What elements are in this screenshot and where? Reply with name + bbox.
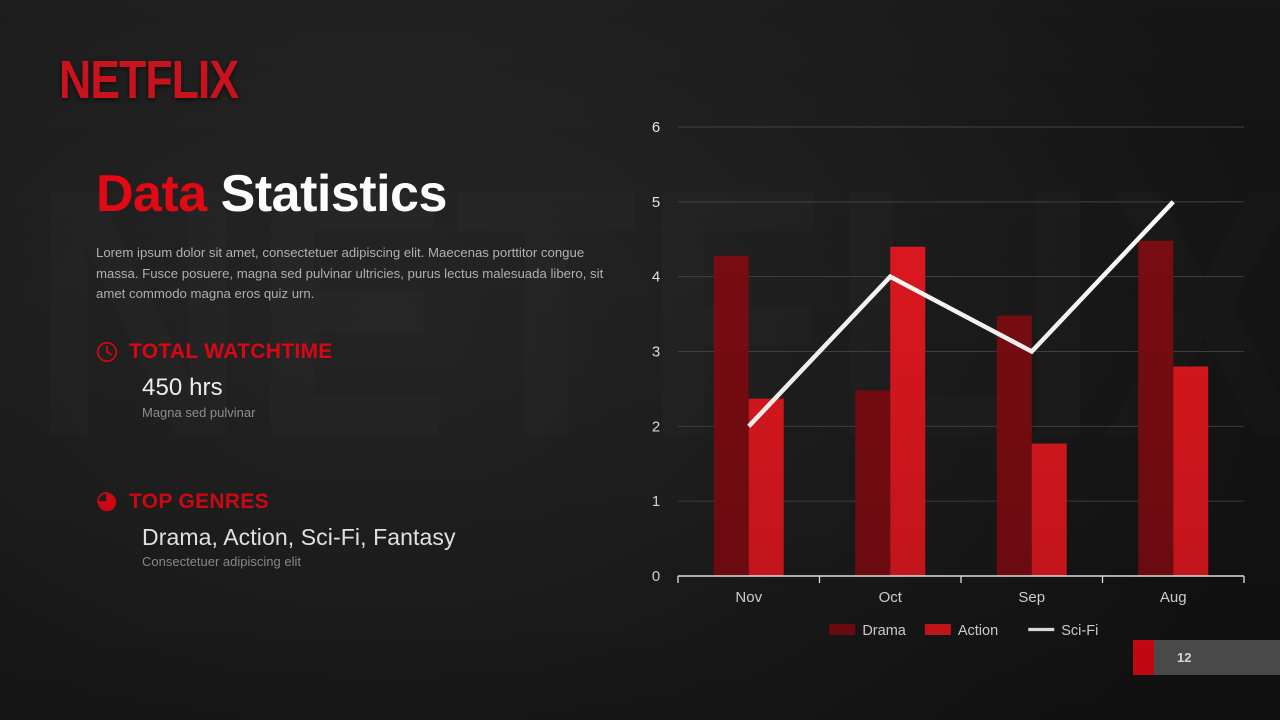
y-tick-label: 1	[652, 493, 660, 510]
page-number-badge: 12	[1133, 640, 1280, 675]
y-tick-label: 3	[652, 344, 660, 361]
page-number: 12	[1177, 650, 1191, 665]
chart-x-axis-labels: NovOctSepAug	[735, 589, 1186, 606]
chart-svg: 0123456 NovOctSepAug DramaActionSci-Fi	[636, 104, 1248, 640]
legend-label: Sci-Fi	[1061, 623, 1098, 639]
chart-bar	[855, 390, 890, 576]
x-tick-label: Aug	[1160, 589, 1187, 606]
chart-bar	[1032, 444, 1067, 576]
chart-bars	[714, 241, 1209, 576]
chart-line	[749, 202, 1174, 427]
chart-x-axis	[678, 576, 1244, 583]
x-tick-label: Oct	[879, 589, 903, 606]
statistics-chart: 0123456 NovOctSepAug DramaActionSci-Fi	[636, 104, 1248, 640]
chart-legend: DramaActionSci-Fi	[829, 623, 1098, 639]
stat-block-top-genres: TOP GENRES Drama, Action, Sci-Fi, Fantas…	[96, 490, 456, 569]
legend-swatch	[925, 624, 951, 635]
x-tick-label: Nov	[735, 589, 762, 606]
y-tick-label: 0	[652, 568, 660, 585]
left-content-column: Data Statistics Lorem ipsum dolor sit am…	[96, 168, 616, 305]
stat-header: TOTAL WATCHTIME	[96, 340, 333, 364]
chart-bar	[714, 256, 749, 576]
y-tick-label: 6	[652, 119, 660, 136]
y-tick-label: 5	[652, 194, 660, 211]
body-paragraph: Lorem ipsum dolor sit amet, consectetuer…	[96, 243, 604, 305]
legend-swatch	[829, 624, 855, 635]
clock-icon	[96, 341, 118, 363]
chart-bar	[749, 399, 784, 576]
page-title-plain: Statistics	[221, 165, 447, 223]
stat-header: TOP GENRES	[96, 490, 456, 514]
stat-subtext: Magna sed pulvinar	[142, 405, 333, 420]
netflix-logo: NETFLIX	[59, 48, 238, 111]
stat-label: TOP GENRES	[129, 490, 269, 514]
stat-block-total-watchtime: TOTAL WATCHTIME 450 hrs Magna sed pulvin…	[96, 340, 333, 420]
chart-bar	[890, 247, 925, 576]
chart-y-axis-labels: 0123456	[652, 119, 660, 585]
badge-accent-bar	[1133, 640, 1154, 675]
chart-bar	[1138, 241, 1173, 576]
chart-bar	[997, 316, 1032, 576]
x-tick-label: Sep	[1018, 589, 1045, 606]
stat-subtext: Consectetuer adipiscing elit	[142, 554, 456, 569]
stat-value: Drama, Action, Sci-Fi, Fantasy	[142, 524, 456, 551]
stat-label: TOTAL WATCHTIME	[129, 340, 333, 364]
stat-value: 450 hrs	[142, 374, 333, 402]
y-tick-label: 4	[652, 269, 660, 286]
page-title: Data Statistics	[96, 168, 616, 220]
chart-line-series	[749, 202, 1174, 427]
chart-bar	[1173, 366, 1208, 576]
legend-label: Drama	[862, 623, 906, 639]
pie-chart-icon	[96, 491, 118, 513]
slide-canvas: NETFLIX NETFLIX Data Statistics Lorem ip…	[0, 0, 1280, 720]
page-title-accent: Data	[96, 165, 207, 223]
legend-label: Action	[958, 623, 998, 639]
y-tick-label: 2	[652, 418, 660, 435]
